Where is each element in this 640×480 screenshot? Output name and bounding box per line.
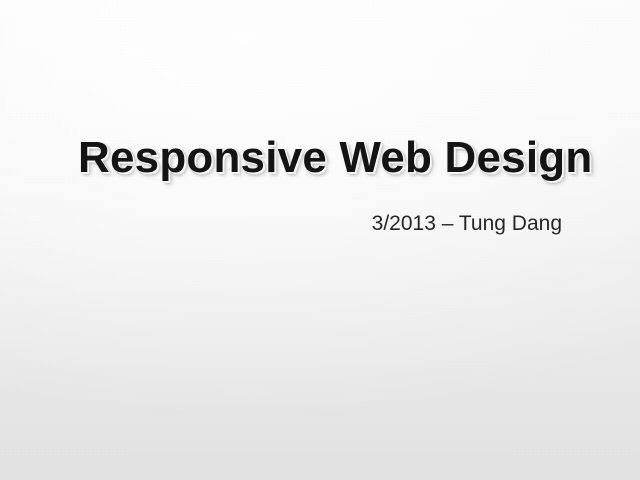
- presentation-title-slide: Responsive Web Design 3/2013 – Tung Dang: [0, 0, 640, 480]
- slide-title: Responsive Web Design: [78, 132, 562, 184]
- background-texture: [0, 0, 640, 480]
- title-block: Responsive Web Design: [78, 132, 562, 184]
- slide-subtitle: 3/2013 – Tung Dang: [78, 211, 562, 237]
